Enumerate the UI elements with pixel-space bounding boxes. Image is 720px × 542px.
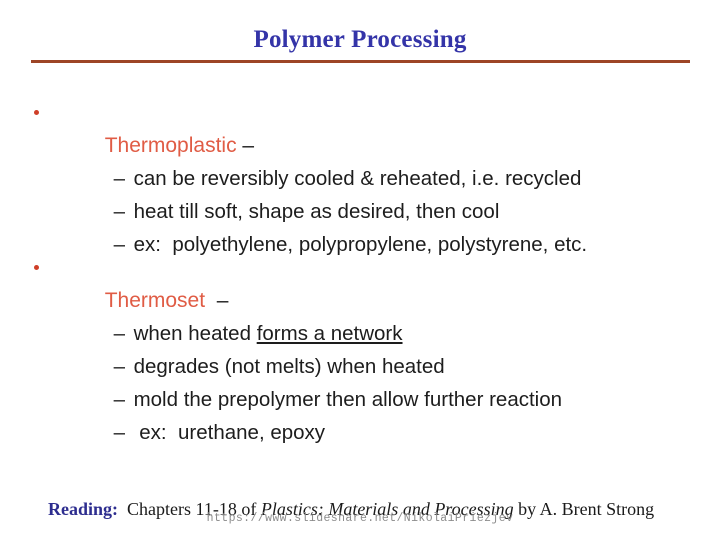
list-item: –mold the prepolymer then allow further … — [0, 350, 720, 383]
bullet-heading-thermoplastic: Thermoplastic – — [0, 96, 720, 129]
bullet-dot-icon — [34, 265, 39, 270]
reading-assignment: Reading: Chapters 11-18 of Plastics: Mat… — [30, 476, 710, 542]
list-item: –ex: polyethylene, polypropylene, polyst… — [0, 195, 720, 228]
source-url: https://www.slideshare.net/NikolaiPriezj… — [0, 512, 720, 525]
bullet-group-thermoset: Thermoset – –when heated forms a network… — [0, 251, 720, 416]
list-item: –when heated forms a network — [0, 284, 720, 317]
bullet-heading-thermoset: Thermoset – — [0, 251, 720, 284]
list-item: –degrades (not melts) when heated — [0, 317, 720, 350]
list-item-text: ex: urethane, epoxy — [134, 421, 325, 444]
list-item: –can be reversibly cooled & reheated, i.… — [0, 129, 720, 162]
bullet-dot-icon — [34, 110, 39, 115]
en-dash-marker: – — [114, 416, 134, 449]
page-title: Polymer Processing — [0, 26, 720, 54]
slide-canvas: Polymer Processing Thermoplastic – –can … — [0, 0, 720, 539]
list-item: – ex: urethane, epoxy — [0, 383, 720, 416]
bullet-group-thermoplastic: Thermoplastic – –can be reversibly coole… — [0, 96, 720, 228]
title-divider — [31, 60, 690, 63]
slide-body: Thermoplastic – –can be reversibly coole… — [0, 96, 720, 416]
list-item: –heat till soft, shape as desired, then … — [0, 162, 720, 195]
